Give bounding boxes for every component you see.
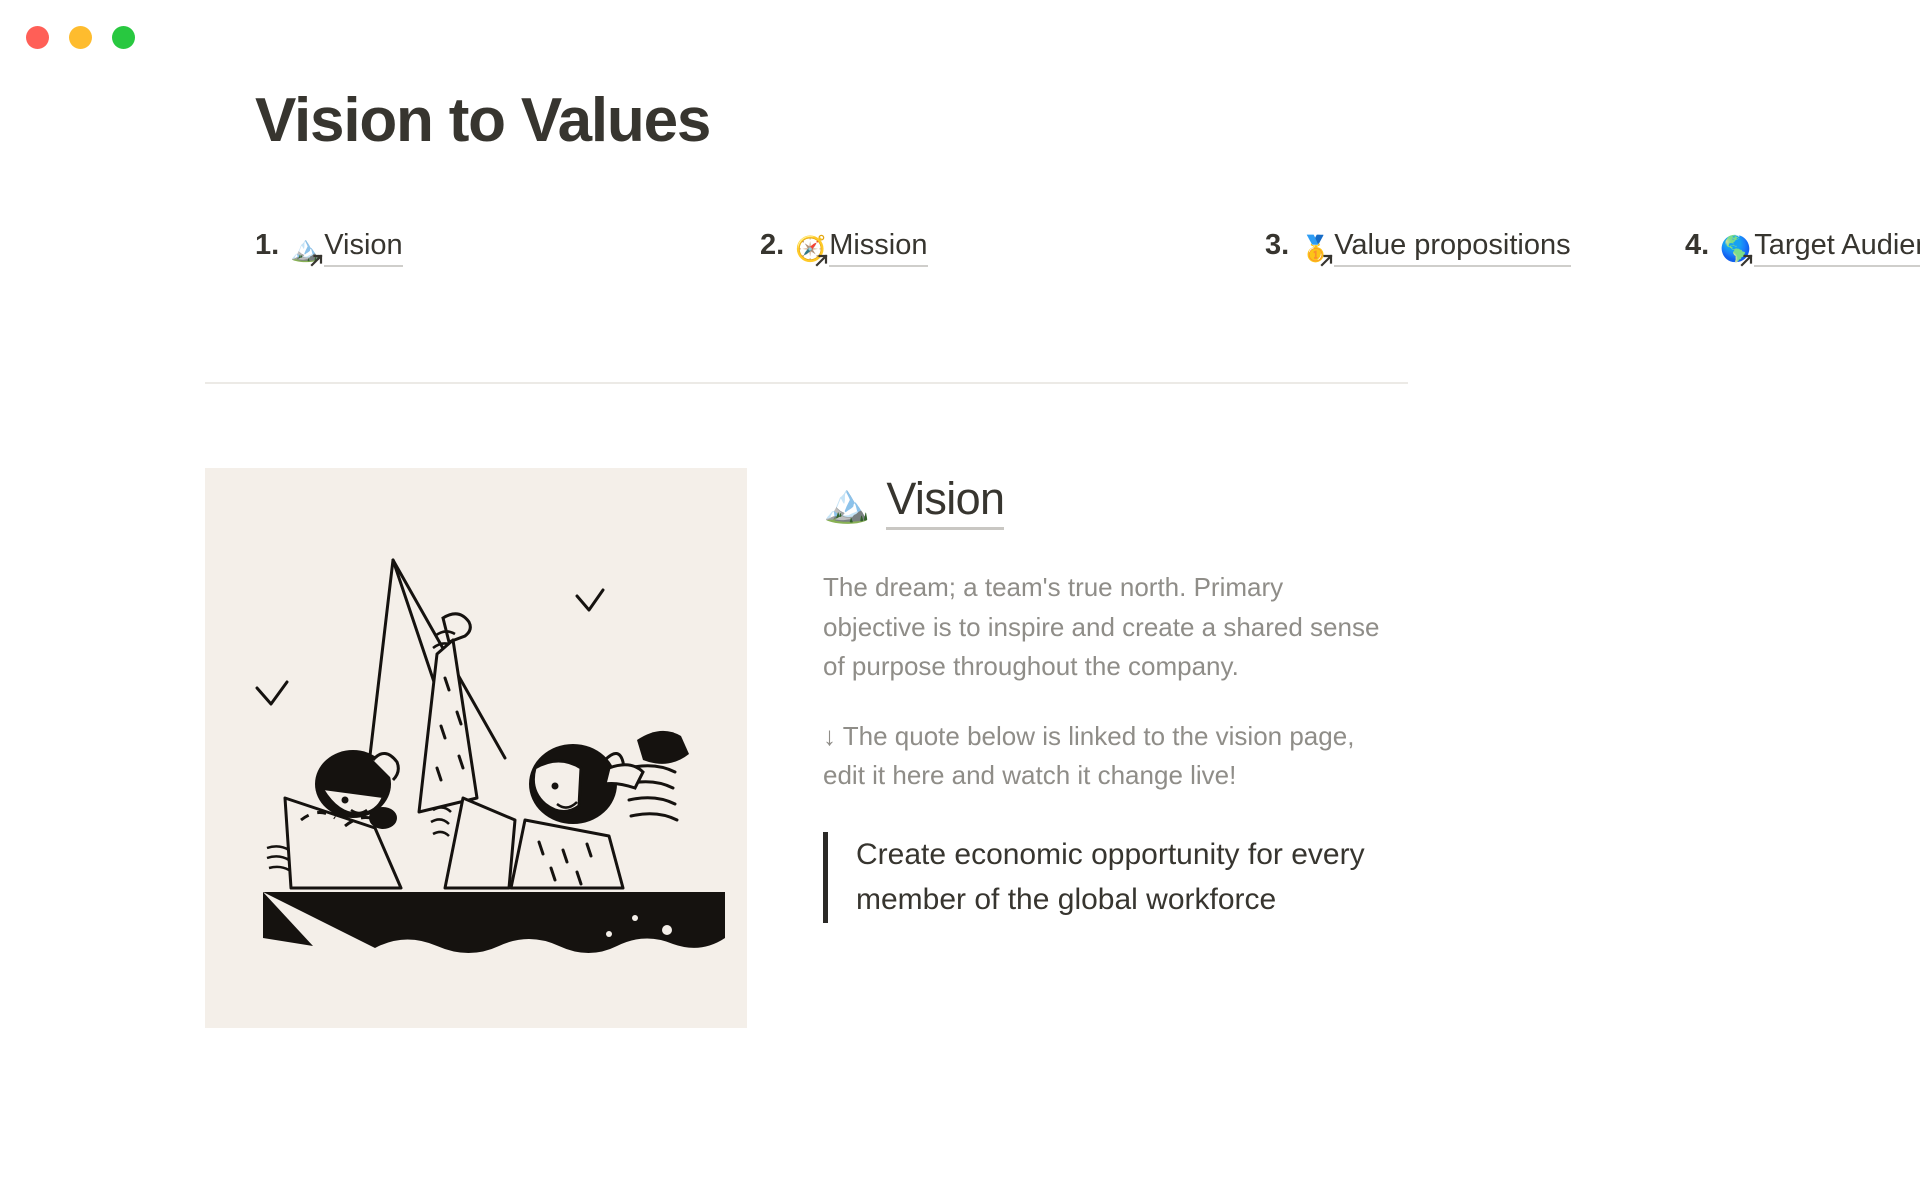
list-item: 3. 🥇 Value propositions — [1265, 228, 1685, 267]
mountain-icon: 🏔️ — [823, 484, 870, 522]
maximize-window-button[interactable] — [112, 26, 135, 49]
link-arrow-icon — [813, 252, 830, 269]
vision-description: The dream; a team's true north. Primary … — [823, 568, 1383, 687]
page-link-vision[interactable]: 🏔️ Vision — [290, 228, 402, 267]
mountain-icon: 🏔️ — [290, 234, 324, 264]
page-link-value-propositions[interactable]: 🥇 Value propositions — [1300, 228, 1570, 267]
compass-icon: 🧭 — [795, 234, 829, 264]
link-arrow-icon — [1318, 252, 1335, 269]
page-link-label: Target Audiences — [1754, 228, 1920, 267]
list-item: 2. 🧭 Mission — [760, 228, 1265, 267]
gold-medal-icon: 🥇 — [1300, 234, 1334, 264]
page-link-label: Value propositions — [1334, 228, 1570, 267]
sailboat-crew-illustration — [205, 468, 747, 1028]
vision-heading: 🏔️ Vision — [823, 474, 1383, 531]
list-number: 1. — [255, 228, 279, 263]
list-number: 4. — [1685, 228, 1709, 263]
title-bar — [0, 0, 1920, 76]
list-number: 3. — [1265, 228, 1289, 263]
close-window-button[interactable] — [26, 26, 49, 49]
vision-quote-text: Create economic opportunity for every me… — [856, 832, 1383, 923]
page-link-mission[interactable]: 🧭 Mission — [795, 228, 927, 267]
vision-hint: ↓ The quote below is linked to the visio… — [823, 717, 1383, 796]
list-item: 1. 🏔️ Vision — [255, 228, 760, 267]
vision-text-column: 🏔️ Vision The dream; a team's true north… — [823, 468, 1383, 923]
list-number: 2. — [760, 228, 784, 263]
vision-section: 🏔️ Vision The dream; a team's true north… — [205, 468, 1720, 1028]
page-link-target-audiences[interactable]: 🌎 Target Audiences — [1720, 228, 1920, 267]
list-item: 4. 🌎 Target Audiences — [1685, 228, 1920, 267]
page-link-grid: 1. 🏔️ Vision 2. 🧭 — [255, 228, 1720, 292]
page-link-label: Vision — [324, 228, 402, 267]
vision-quote-block: Create economic opportunity for every me… — [823, 832, 1383, 923]
link-arrow-icon — [308, 252, 325, 269]
minimize-window-button[interactable] — [69, 26, 92, 49]
page-link-label: Mission — [829, 228, 927, 267]
window-controls — [26, 26, 135, 49]
page-title: Vision to Values — [255, 88, 1720, 154]
link-arrow-icon — [1738, 252, 1755, 269]
globe-icon: 🌎 — [1720, 234, 1754, 264]
section-divider — [205, 382, 1408, 384]
vision-heading-label: Vision — [886, 474, 1004, 531]
app-window: Vision to Values 1. 🏔️ Vision 2. — [0, 0, 1920, 1200]
page-content: Vision to Values 1. 🏔️ Vision 2. — [0, 76, 1920, 1200]
